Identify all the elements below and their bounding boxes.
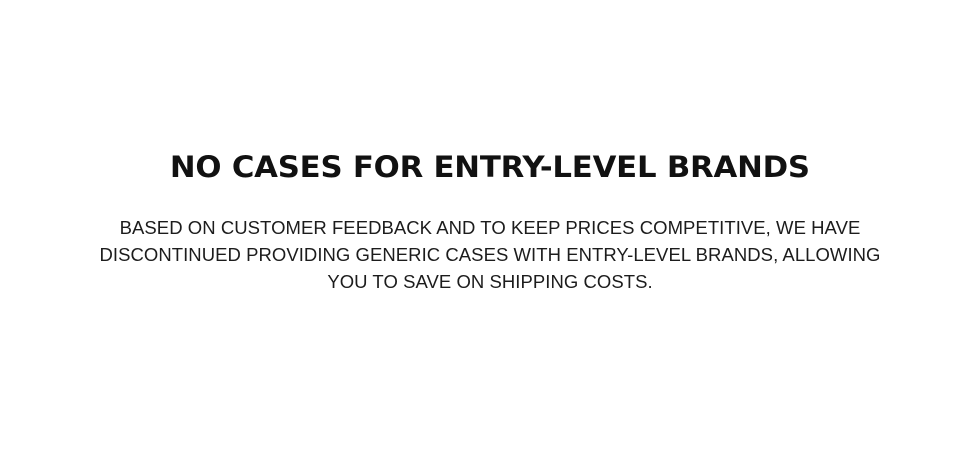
promo-banner: NO CASES FOR ENTRY-LEVEL BRANDS BASED ON… <box>0 0 980 450</box>
page-title: NO CASES FOR ENTRY-LEVEL BRANDS <box>170 150 810 184</box>
promo-description-line: DISCONTINUED PROVIDING GENERIC CASES WIT… <box>90 241 890 268</box>
promo-description-line: YOU TO SAVE ON SHIPPING COSTS. <box>90 268 890 295</box>
promo-description: BASED ON CUSTOMER FEEDBACK AND TO KEEP P… <box>90 184 890 295</box>
promo-description-line: BASED ON CUSTOMER FEEDBACK AND TO KEEP P… <box>90 214 890 241</box>
